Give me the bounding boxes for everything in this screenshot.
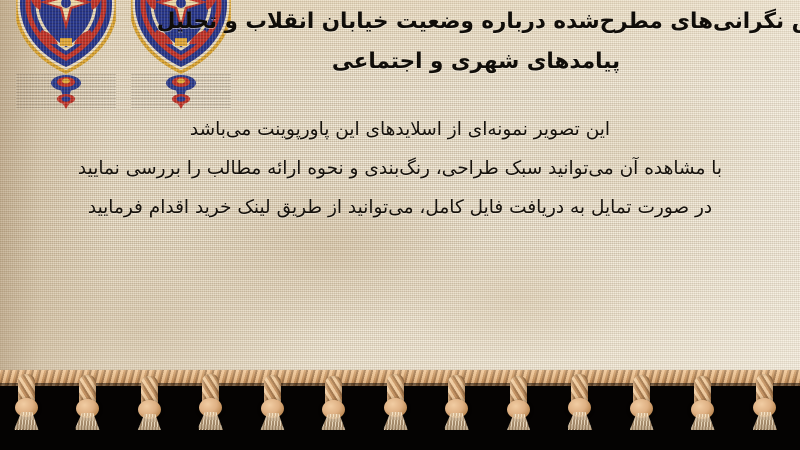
body-line-1: این تصویر نمونه‌ای از اسلایدهای این پاور… [0, 110, 800, 149]
slide-title-line-1: س نگرانی‌های مطرح‌شده درباره وضعیت خیابا… [146, 2, 800, 42]
persian-carpet-medallion-icon [16, 0, 116, 114]
slide-body-text: این تصویر نمونه‌ای از اسلایدهای این پاور… [0, 110, 800, 227]
body-line-2: با مشاهده آن می‌توانید سبک طراحی، رنگ‌بن… [0, 149, 800, 188]
slide-title-line-2: پیامدهای شهری و اجتماعی [146, 42, 800, 82]
slide-title: س نگرانی‌های مطرح‌شده درباره وضعیت خیابا… [146, 2, 800, 82]
body-line-3: در صورت تمایل به دریافت فایل کامل، می‌تو… [0, 188, 800, 227]
bottom-black-band [0, 430, 800, 450]
presentation-slide: س نگرانی‌های مطرح‌شده درباره وضعیت خیابا… [0, 0, 800, 450]
